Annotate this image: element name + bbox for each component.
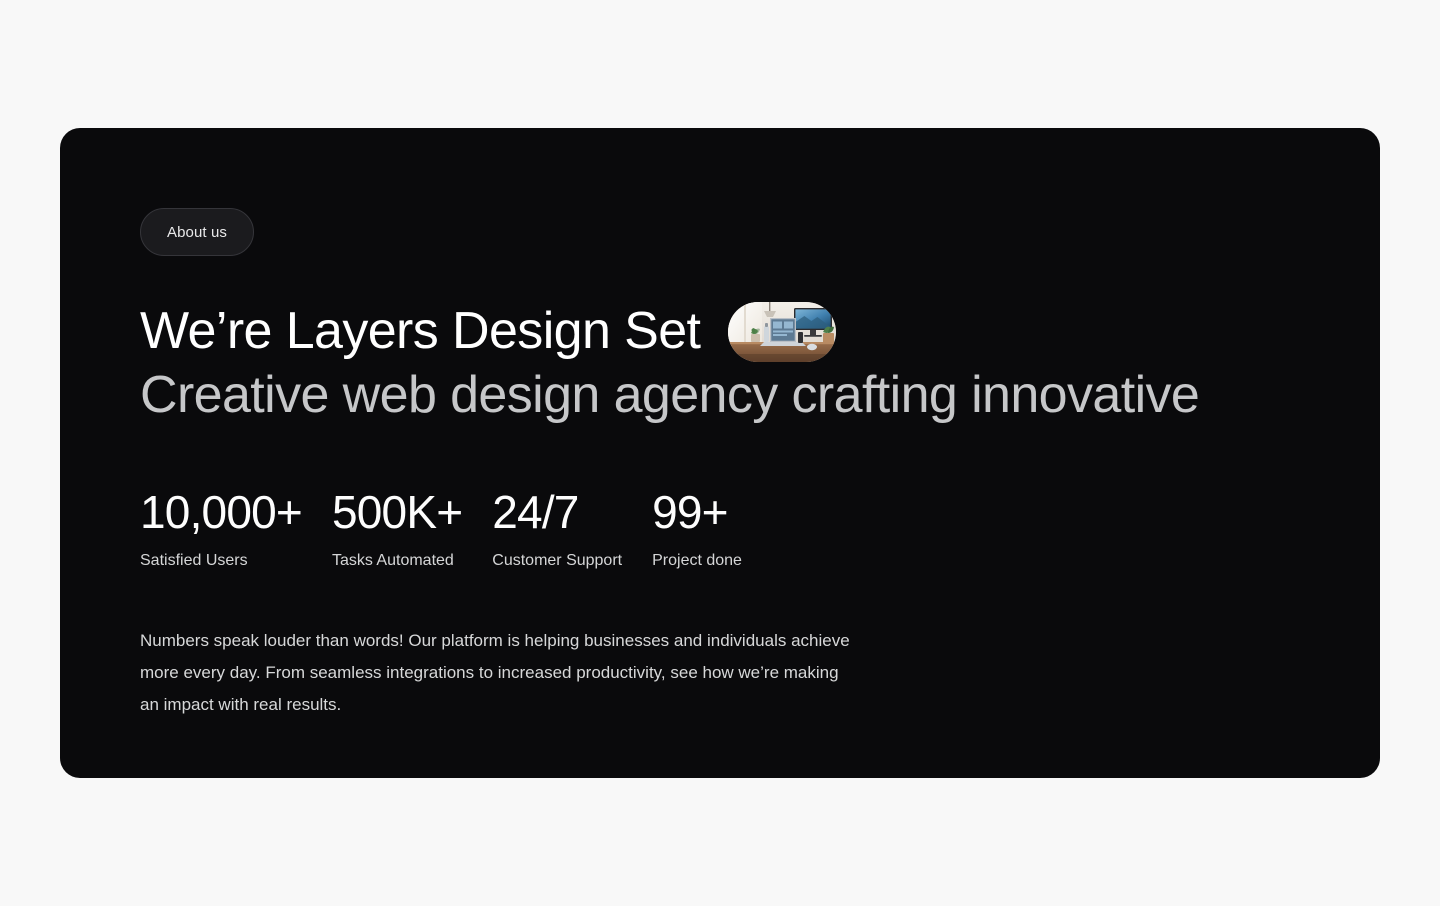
stat-item: 500K+ Tasks Automated: [332, 488, 462, 570]
about-description: Numbers speak louder than words! Our pla…: [140, 625, 852, 721]
stat-label: Project done: [652, 551, 742, 570]
page-root: About us We’re Layers Design Set: [0, 0, 1440, 906]
stat-item: 99+ Project done: [652, 488, 742, 570]
stat-item: 10,000+ Satisfied Users: [140, 488, 302, 570]
stat-label: Customer Support: [492, 551, 622, 570]
workspace-photo: [728, 302, 836, 362]
stat-label: Tasks Automated: [332, 551, 462, 570]
stat-value: 24/7: [492, 488, 622, 538]
stat-item: 24/7 Customer Support: [492, 488, 622, 570]
heading-block: We’re Layers Design Set: [140, 300, 1320, 426]
card-content: About us We’re Layers Design Set: [140, 208, 1320, 721]
heading-line-2: Creative web design agency crafting inno…: [140, 364, 1320, 426]
stats-row: 10,000+ Satisfied Users 500K+ Tasks Auto…: [140, 488, 1320, 570]
stat-value: 99+: [652, 488, 742, 538]
heading-line-1-text: We’re Layers Design Set: [140, 300, 700, 362]
about-us-card: About us We’re Layers Design Set: [60, 128, 1380, 778]
about-us-badge[interactable]: About us: [140, 208, 254, 256]
stat-value: 10,000+: [140, 488, 302, 538]
stat-label: Satisfied Users: [140, 551, 302, 570]
heading-line-1: We’re Layers Design Set: [140, 300, 1320, 362]
stat-value: 500K+: [332, 488, 462, 538]
